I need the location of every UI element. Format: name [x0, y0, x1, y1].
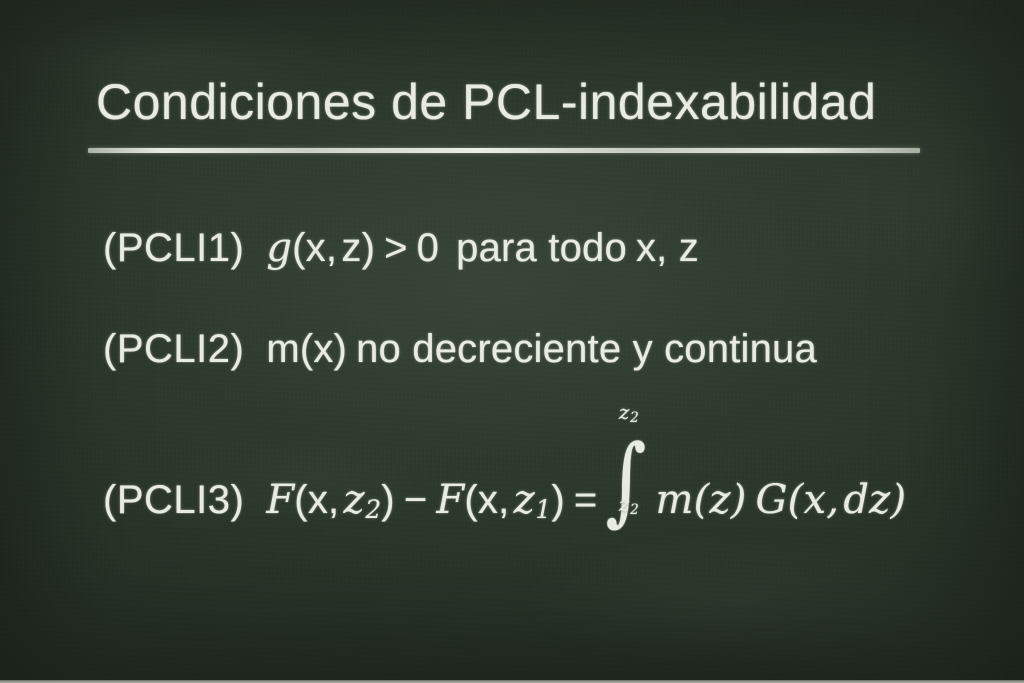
operator-equals: =: [574, 478, 598, 522]
variable-x: x: [478, 478, 498, 522]
variable-x: x: [308, 478, 328, 522]
function-name-m: m: [655, 477, 693, 523]
comma: ,: [326, 226, 337, 270]
paren-close: ): [362, 226, 376, 270]
integral-lower-limit: z2: [619, 494, 639, 517]
paren-close: ): [890, 477, 906, 523]
operator-minus: −: [404, 478, 428, 522]
variable-z-first: z: [344, 477, 365, 523]
condition-tag-pcli1: (PCLI1): [103, 228, 244, 268]
differential-dz: dz: [843, 477, 890, 523]
comma: ,: [498, 478, 509, 522]
chalkboard: Condiciones de PCL-indexabilidad (PCLI1)…: [0, 0, 1024, 683]
condition-formula-pcli1: g(x, z)>0para todox, z: [266, 228, 699, 268]
function-name-F-second: F: [436, 477, 464, 523]
integral-lower-variable: z: [619, 492, 630, 516]
subscript-2: 2: [365, 495, 381, 524]
value-zero: 0: [417, 226, 439, 270]
condition-tag-pcli2: (PCLI2): [103, 329, 244, 369]
paren-close: ): [381, 478, 395, 522]
title-underline: [88, 148, 920, 153]
integral-lower-subscript: 2: [630, 502, 639, 518]
integrand-expression: m(z)G(x, dz): [655, 480, 906, 520]
subscript-1: 1: [535, 495, 551, 524]
text-no-decreciente-y-continua: no decreciente y continua: [356, 327, 817, 371]
board-content: Condiciones de PCL-indexabilidad (PCLI1)…: [0, 0, 1024, 683]
variable-x: x: [803, 477, 826, 523]
paren-open: (: [464, 478, 478, 522]
variables-x-z: x, z: [636, 226, 699, 270]
text-para-todo: para todo: [456, 226, 627, 270]
condition-row-pcli2: (PCLI2) m(x)no decreciente y continua: [103, 329, 817, 369]
integral-upper-limit: z2: [619, 402, 639, 425]
paren-close: ): [731, 477, 747, 523]
integral-expression: z2 ∫ z2: [606, 458, 646, 508]
paren-open: (: [788, 477, 804, 523]
condition-tag-pcli3: (PCLI3): [103, 480, 244, 520]
variable-z: z: [341, 226, 361, 270]
variable-z-second: z: [514, 477, 535, 523]
variable-x: x: [306, 226, 326, 270]
comma: ,: [826, 477, 839, 523]
function-name-G: G: [756, 477, 788, 523]
variable-z: z: [709, 477, 730, 523]
page-title: Condiciones de PCL-indexabilidad: [96, 76, 876, 129]
function-name-g: g: [266, 225, 292, 271]
paren-open: (: [292, 226, 306, 270]
comma: ,: [328, 478, 339, 522]
integral-upper-variable: z: [619, 400, 630, 424]
paren-open: (: [694, 477, 710, 523]
condition-row-pcli3: (PCLI3) F(x, z2)−F(x, z1)= z2 ∫ z2 m(z)G…: [103, 456, 906, 523]
paren-close: ): [551, 478, 565, 522]
function-m-of-x: m(x): [266, 327, 347, 371]
operator-greater-than: >: [384, 226, 408, 270]
paren-open: (: [294, 478, 308, 522]
function-name-F-first: F: [266, 477, 294, 523]
condition-row-pcli1: (PCLI1) g(x, z)>0para todox, z: [103, 228, 699, 268]
condition-formula-pcli2: m(x)no decreciente y continua: [266, 329, 817, 369]
condition-formula-pcli3-lhs: F(x, z2)−F(x, z1)=: [266, 480, 597, 523]
